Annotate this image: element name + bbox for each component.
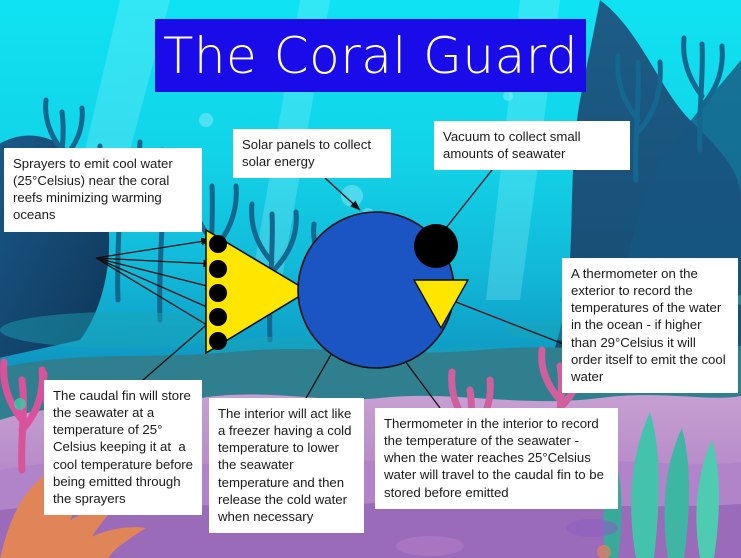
callout-solar-panels: Solar panels to collect solar energy xyxy=(233,129,391,178)
callout-thermometer-interior: Thermometer in the interior to record th… xyxy=(375,408,618,509)
callout-interior: The interior will act like a freezer hav… xyxy=(209,398,364,533)
sprayer-dot xyxy=(209,235,227,253)
sprayer-dot xyxy=(209,260,227,278)
callout-caudal-fin: The caudal fin will store the seawater a… xyxy=(44,380,202,515)
sprayer-dot xyxy=(209,284,227,302)
callout-thermometer-exterior: A thermometer on the exterior to record … xyxy=(562,258,738,393)
callout-vacuum: Vacuum to collect small amounts of seawa… xyxy=(434,121,630,170)
callout-sprayers: Sprayers to emit cool water (25°Celsius)… xyxy=(4,148,202,232)
sprayer-dot xyxy=(209,308,227,326)
poster-canvas: The Coral Guard xyxy=(0,0,741,558)
leader-sprayer-1 xyxy=(96,240,211,258)
vacuum-port xyxy=(414,224,458,268)
coral-guard-fish-diagram xyxy=(196,188,506,378)
sprayer-dot xyxy=(209,332,227,350)
